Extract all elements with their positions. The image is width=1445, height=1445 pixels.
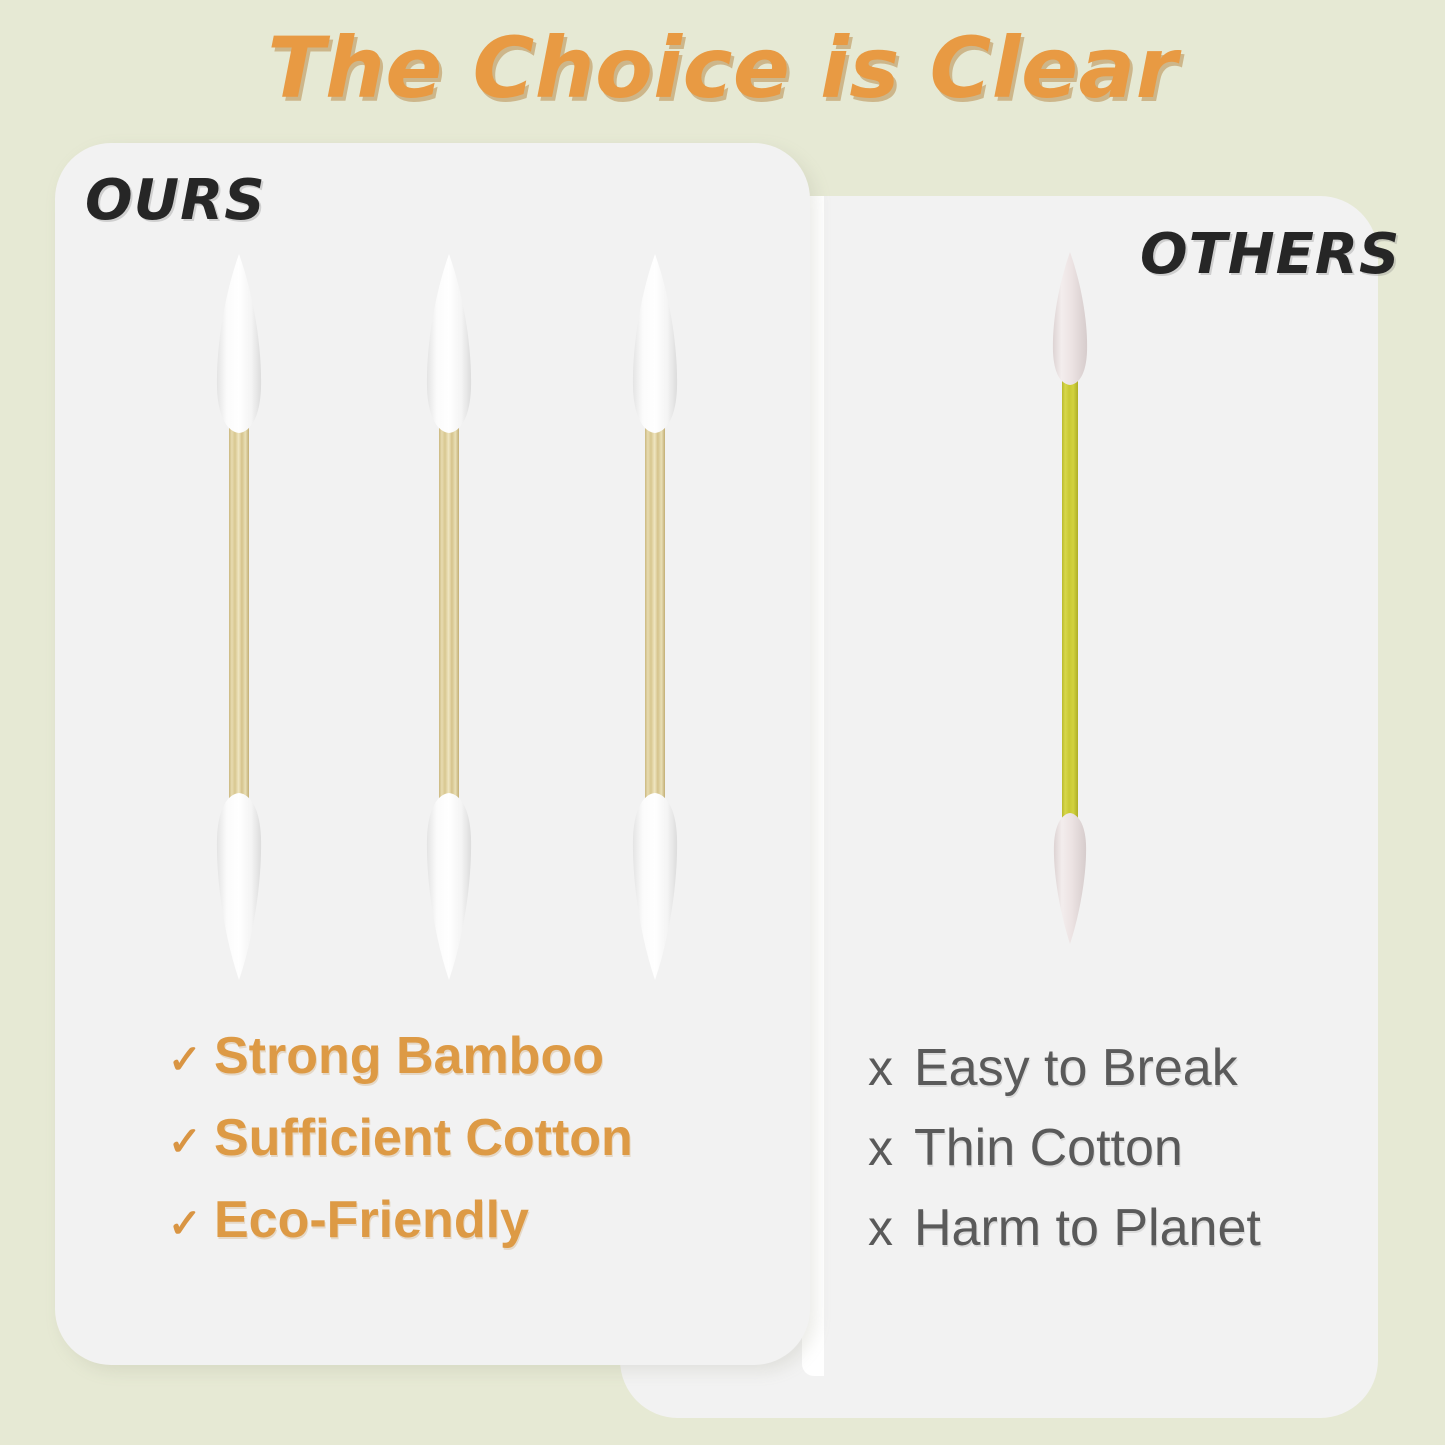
ours-label: OURS [85,168,266,233]
check-icon: ✓ [168,1122,214,1162]
feature-label: Thin Cotton [914,1120,1183,1176]
others-label: OTHERS [1140,222,1400,287]
check-icon: ✓ [168,1204,214,1244]
feature-label: Harm to Planet [914,1200,1261,1256]
others-feature-list: x Easy to Break x Thin Cotton x Harm to … [868,1040,1261,1280]
list-item: x Thin Cotton [868,1120,1261,1176]
ours-feature-list: ✓ Strong Bamboo ✓ Sufficient Cotton ✓ Ec… [168,1028,633,1274]
feature-label: Sufficient Cotton [214,1110,633,1166]
list-item: ✓ Eco-Friendly [168,1192,633,1248]
bamboo-swab-icon [196,252,282,982]
plastic-swab-icon [1032,248,1108,948]
list-item: x Harm to Planet [868,1200,1261,1256]
bamboo-swab-icon [406,252,492,982]
list-item: ✓ Sufficient Cotton [168,1110,633,1166]
feature-label: Easy to Break [914,1040,1238,1096]
x-icon: x [868,1123,914,1173]
check-icon: ✓ [168,1040,214,1080]
comparison-infographic: The Choice is Clear OURS OTHERS [0,0,1445,1445]
feature-label: Eco-Friendly [214,1192,529,1248]
bamboo-swab-icon [612,252,698,982]
x-icon: x [868,1043,914,1093]
list-item: x Easy to Break [868,1040,1261,1096]
feature-label: Strong Bamboo [214,1028,604,1084]
x-icon: x [868,1203,914,1253]
page-title: The Choice is Clear [0,22,1445,114]
list-item: ✓ Strong Bamboo [168,1028,633,1084]
